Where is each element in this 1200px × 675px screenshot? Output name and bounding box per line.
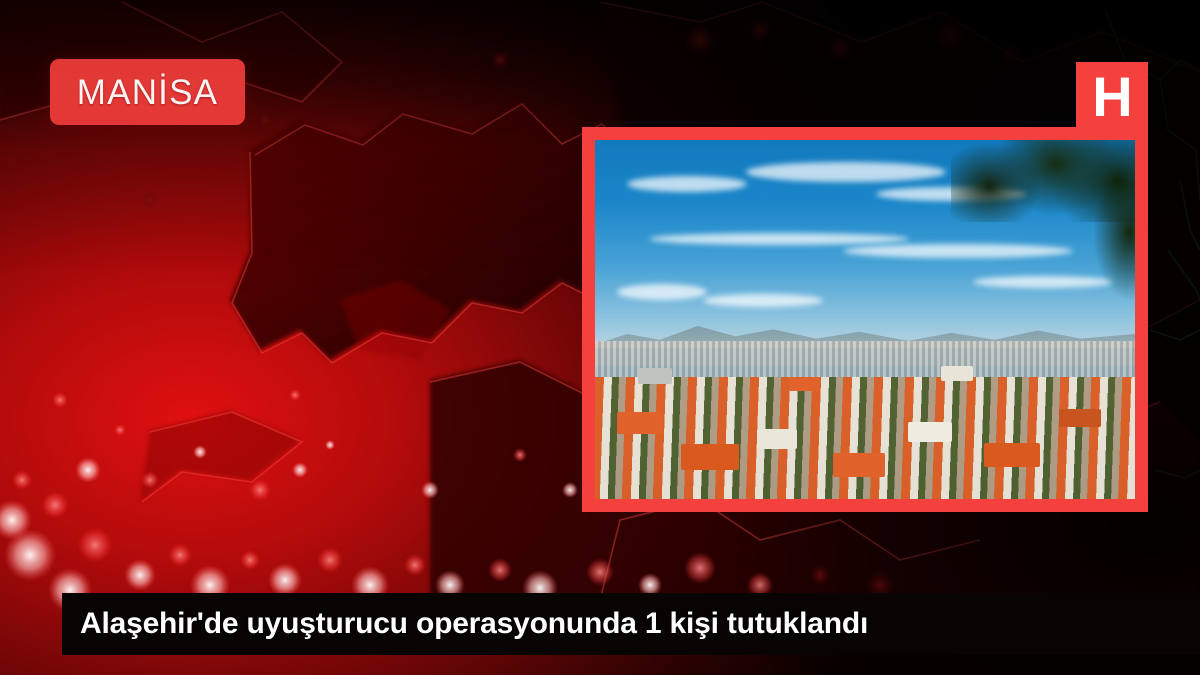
photo-frame (582, 127, 1148, 512)
headline-text: Alaşehir'de uyuşturucu operasyonunda 1 k… (62, 607, 868, 641)
rooftop (833, 453, 885, 477)
headline-bar: Alaşehir'de uyuşturucu operasyonunda 1 k… (62, 593, 1200, 655)
rooftop (984, 443, 1040, 467)
rooftop (757, 429, 797, 449)
rooftop (638, 368, 672, 384)
cloud (746, 162, 946, 182)
rooftop (681, 444, 739, 470)
rooftop (908, 422, 952, 442)
rooftop (941, 366, 973, 381)
city-badge-label: MANİSA (77, 75, 218, 110)
foliage-right (1065, 180, 1135, 310)
rooftop (617, 412, 663, 434)
news-graphic: MANİSA (0, 0, 1200, 675)
city-photo (595, 140, 1135, 499)
logo-letter: H (1092, 69, 1131, 125)
city-badge: MANİSA (50, 59, 245, 125)
cloud (627, 176, 747, 192)
haberler-h-logo[interactable]: H (1076, 62, 1148, 131)
cloud (617, 284, 707, 300)
rooftop (1059, 409, 1101, 427)
photo-foreground-city (595, 377, 1135, 499)
rooftop (789, 377, 819, 391)
